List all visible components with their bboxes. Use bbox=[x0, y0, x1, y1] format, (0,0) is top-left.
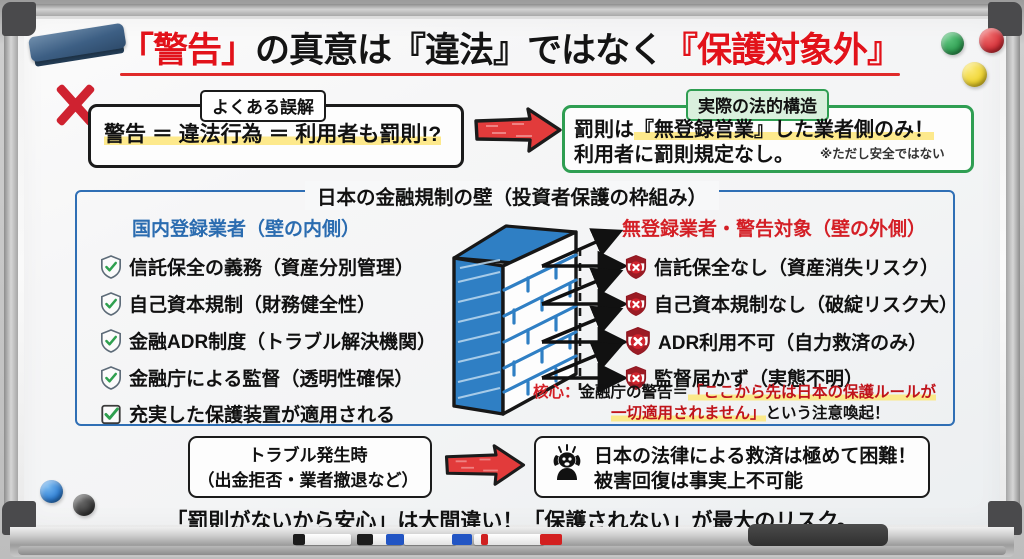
core-text-a: 金融庁の警告＝ bbox=[580, 384, 689, 401]
list-item-label: 自己資本規制なし（破綻リスク大） bbox=[654, 290, 958, 317]
title-part-3: 『違法』 bbox=[391, 31, 527, 70]
core-message: 核心：金融庁の警告＝「ここから先は日本の保護ルールが 一切適用されません」という… bbox=[533, 383, 936, 425]
red-block-arrow-1 bbox=[472, 106, 564, 154]
trouble-line-1: トラブル発生時 bbox=[188, 441, 428, 466]
shield-check-icon bbox=[100, 366, 122, 390]
magnet-green bbox=[941, 32, 964, 55]
shield-check-icon bbox=[100, 255, 122, 279]
reality-line-1-c: した業者側のみ！ bbox=[774, 119, 934, 141]
marker-cap-black-1 bbox=[293, 534, 305, 545]
consequence-line-1: 日本の法律による救済は極めて困難！ bbox=[594, 441, 916, 468]
whiteboard-screenshot: 「警告」の真意は『違法』ではなく『保護対象外』 よくある誤解 警告 ＝ 違法行為… bbox=[0, 0, 1024, 559]
title-underline bbox=[120, 73, 900, 76]
misconception-tag: よくある誤解 bbox=[200, 90, 326, 122]
list-item: 信託保全なし（資産消失リスク） bbox=[625, 253, 939, 280]
list-item: ADR利用不可（自力救済のみ） bbox=[625, 327, 927, 355]
shield-check-icon bbox=[100, 292, 122, 316]
title-part-5: 『保護対象外』 bbox=[663, 31, 901, 70]
pen-tray-lip bbox=[18, 546, 1006, 555]
marker-cap-red-1 bbox=[481, 534, 488, 545]
magnet-red bbox=[979, 28, 1004, 53]
shield-check-icon bbox=[100, 329, 122, 353]
tray-eraser-icon bbox=[748, 524, 888, 546]
list-item: 充実した保護装置が適用される bbox=[100, 400, 395, 427]
core-label: 核心： bbox=[533, 384, 580, 401]
list-item-label: 信託保全なし（資産消失リスク） bbox=[654, 253, 939, 280]
page-title: 「警告」の真意は『違法』ではなく『保護対象外』 bbox=[110, 22, 910, 73]
person-distress-icon bbox=[546, 443, 588, 485]
marker-cap-red-2 bbox=[540, 534, 562, 545]
list-item: 金融ADR制度（トラブル解決機関） bbox=[100, 327, 436, 354]
marker-cap-blue-1 bbox=[386, 534, 404, 545]
shield-x-icon bbox=[625, 327, 651, 355]
title-part-1: 「警告」 bbox=[119, 31, 255, 70]
list-item-label: 信託保全の義務（資産分別管理） bbox=[129, 253, 414, 280]
red-block-arrow-2 bbox=[442, 443, 528, 487]
reality-note: ※ただし安全ではない bbox=[820, 143, 945, 162]
marker-cap-black-2 bbox=[357, 534, 373, 545]
breach-arrow-group bbox=[540, 228, 636, 405]
title-part-4: ではなく bbox=[527, 31, 663, 70]
frame-rail-right bbox=[1006, 8, 1020, 528]
misconception-text: 警告 ＝ 違法行為 ＝ 利用者も罰則!? bbox=[104, 122, 441, 148]
frame-rail-left bbox=[4, 8, 18, 528]
list-item: 金融庁による監督（透明性確保） bbox=[100, 364, 413, 391]
list-item-label: 金融ADR制度（トラブル解決機関） bbox=[129, 327, 436, 354]
magnet-blue bbox=[40, 480, 63, 503]
list-item: 信託保全の義務（資産分別管理） bbox=[100, 253, 414, 280]
inside-column-heading: 国内登録業者（壁の内側） bbox=[132, 214, 360, 241]
shield-x-icon bbox=[625, 255, 647, 279]
marker-blue-1 bbox=[404, 534, 456, 545]
shield-x-icon bbox=[625, 292, 647, 316]
title-part-2: の真意は bbox=[255, 31, 391, 70]
list-item: 自己資本規制（財務健全性） bbox=[100, 290, 376, 317]
marker-cap-blue-2 bbox=[452, 534, 472, 545]
outside-column-heading: 無登録業者・警告対象（壁の外側） bbox=[622, 214, 926, 241]
consequence-line-2: 被害回復は事実上不可能 bbox=[594, 466, 803, 493]
core-quote-start: 「ここから先は日本の保護ルールが bbox=[688, 384, 936, 401]
list-item: 自己資本規制なし（破綻リスク大） bbox=[625, 290, 958, 317]
magnet-yellow bbox=[962, 62, 987, 87]
frame-corner-top-left bbox=[2, 2, 36, 36]
checkbox-check-icon bbox=[100, 402, 122, 426]
frame-rail-top bbox=[8, 4, 1016, 16]
list-item-label: ADR利用不可（自力救済のみ） bbox=[658, 328, 927, 355]
core-text-b: という注意喚起！ bbox=[766, 405, 890, 422]
misconception-line: 警告 ＝ 違法行為 ＝ 利用者も罰則!? bbox=[104, 123, 441, 146]
core-quote-end: 一切適用されません」 bbox=[611, 405, 766, 422]
list-item-label: 充実した保護装置が適用される bbox=[129, 400, 395, 427]
wall-panel-title: 日本の金融規制の壁（投資者保護の枠組み） bbox=[305, 181, 719, 210]
trouble-line-2: （出金拒否・業者撤退など） bbox=[188, 466, 428, 491]
list-item-label: 自己資本規制（財務健全性） bbox=[129, 290, 376, 317]
reality-line-2: 利用者に罰則規定なし。 bbox=[574, 138, 794, 167]
list-item-label: 金融庁による監督（透明性確保） bbox=[129, 364, 413, 391]
